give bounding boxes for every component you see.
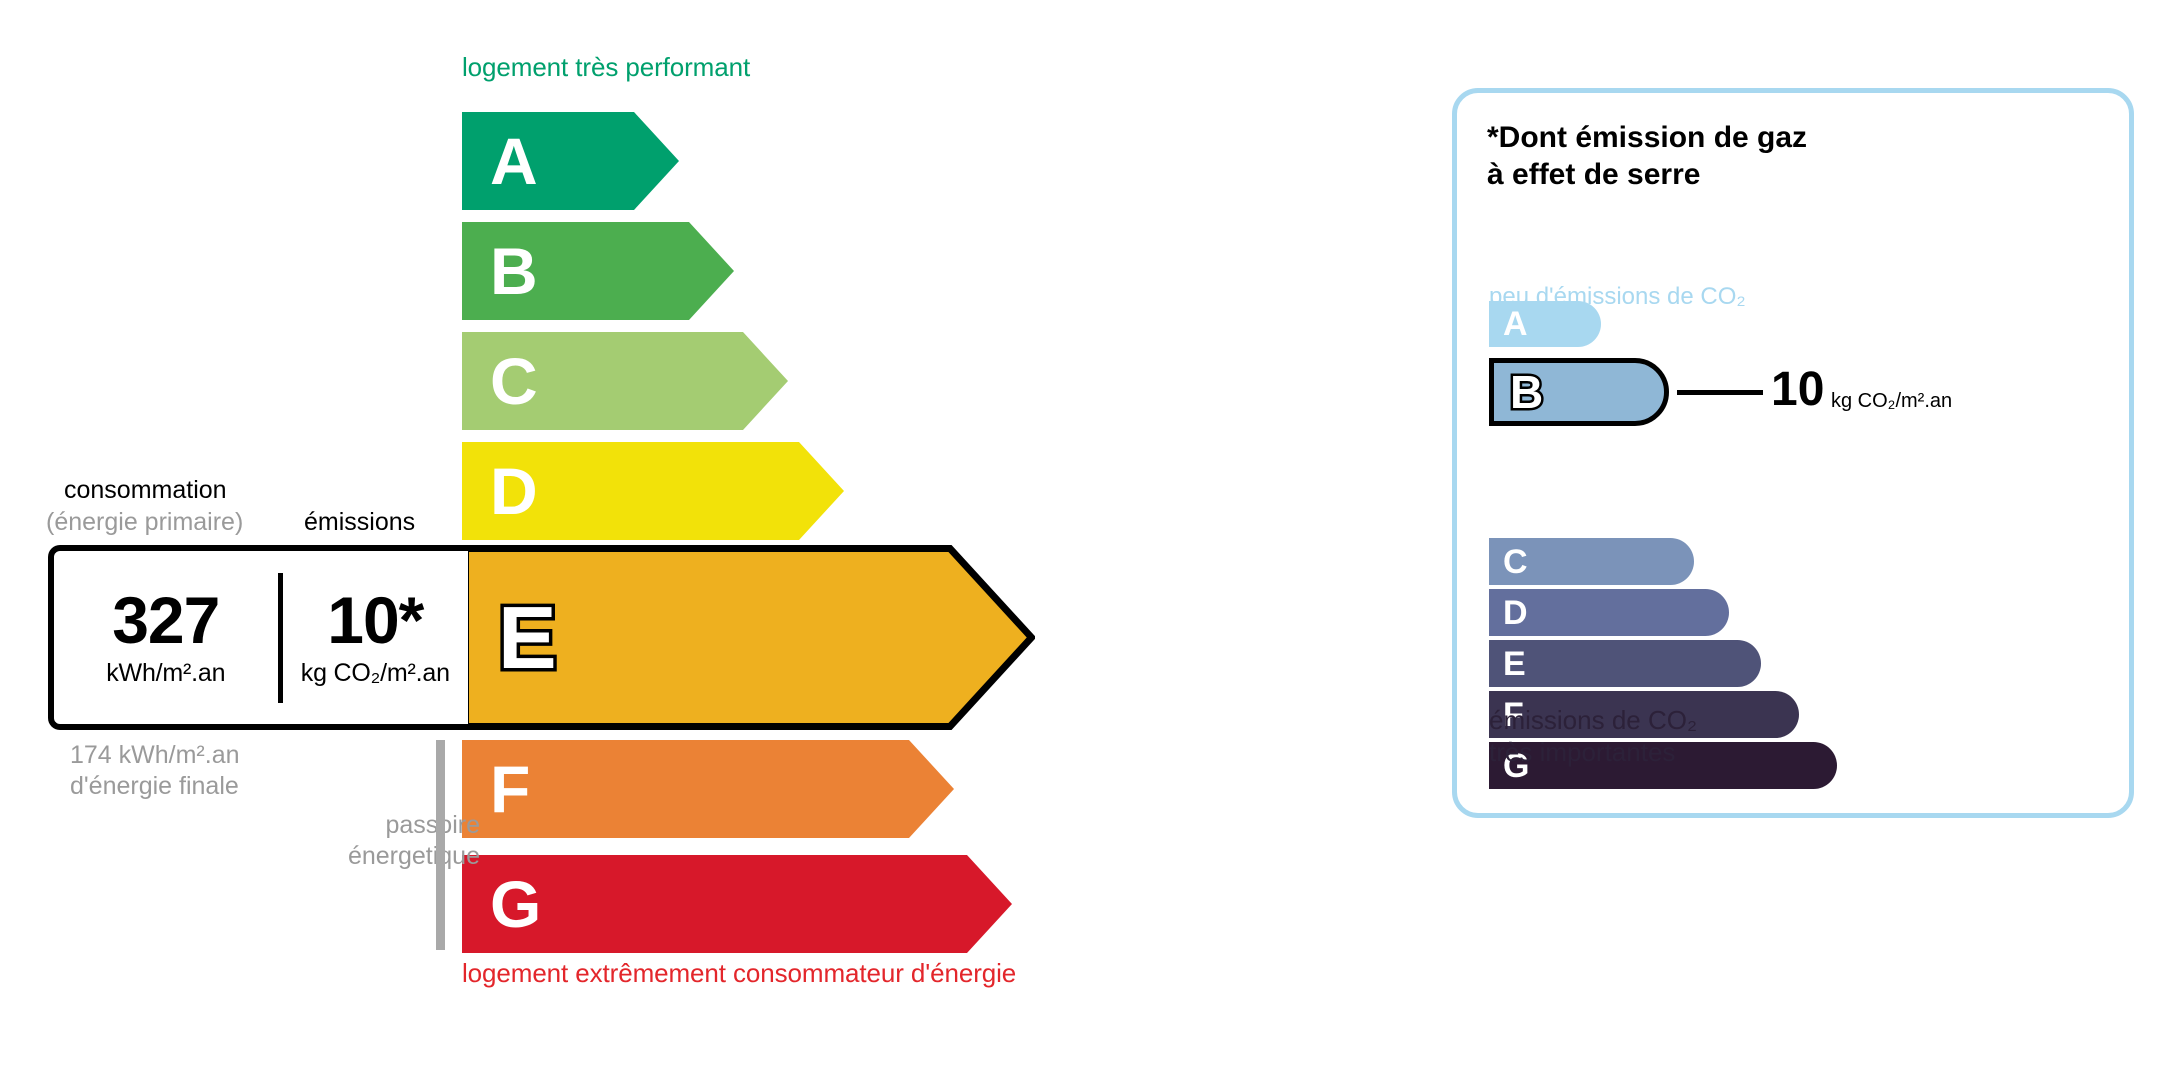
energy-band-a-letter: A — [490, 128, 538, 194]
energy-band-d: D — [462, 442, 844, 540]
ges-panel-title: *Dont émission de gaz à effet de serre — [1487, 120, 1807, 193]
ges-row-b-letter: B — [1510, 369, 1543, 415]
energy-band-g: G — [462, 855, 1012, 953]
passoire-bracket-line — [436, 740, 445, 950]
passoire-line1: passoire — [290, 810, 480, 841]
passoire-line2: énergetique — [290, 841, 480, 872]
energy-band-d-letter: D — [490, 458, 538, 524]
emission-unit: kg CO₂/m².an — [289, 659, 462, 688]
energy-band-b: B — [462, 222, 734, 320]
final-energy-note: 174 kWh/m².an d'énergie finale — [70, 740, 240, 803]
consumption-unit: kWh/m².an — [60, 659, 272, 688]
ges-co2-panel: *Dont émission de gaz à effet de serre p… — [1452, 88, 2134, 818]
energy-band-e-letter: E — [498, 594, 557, 682]
label-emissions: émissions — [304, 508, 415, 537]
ges-callout-unit: kg CO₂/m².an — [1831, 390, 1952, 413]
energy-band-f-letter: F — [490, 756, 530, 822]
consumption-number: 327 — [60, 587, 272, 653]
final-energy-line1: 174 kWh/m².an — [70, 740, 240, 771]
energy-top-caption: logement très performant — [462, 52, 750, 83]
ges-row-a: A — [1489, 301, 1601, 347]
energy-band-c: C — [462, 332, 788, 430]
energy-bottom-caption: logement extrêmement consommateur d'éner… — [462, 958, 1016, 989]
energy-band-b-letter: B — [490, 238, 538, 304]
ges-row-d-letter: D — [1503, 596, 1528, 630]
energy-band-f-arrow — [462, 740, 954, 838]
ges-row-a-letter: A — [1503, 307, 1528, 341]
ges-row-e: E — [1489, 640, 1761, 687]
ges-bottom-line2: très importantes — [1489, 737, 1697, 769]
ges-row-b-selected: B — [1489, 358, 1669, 426]
dpe-energy-chart: logement très performant A B C D E F G c… — [0, 0, 1450, 1079]
ges-bottom-caption: émissions de CO₂ très importantes — [1489, 705, 1697, 768]
ges-row-c-letter: C — [1503, 545, 1528, 579]
ges-bottom-line1: émissions de CO₂ — [1489, 705, 1697, 737]
ges-callout-leader-line — [1677, 390, 1763, 395]
emission-number: 10* — [289, 587, 462, 653]
ges-row-c: C — [1489, 538, 1694, 585]
energy-band-e-selected: E — [462, 545, 1035, 730]
label-energie-primaire: (énergie primaire) — [46, 508, 243, 537]
ges-row-d: D — [1489, 589, 1729, 636]
passoire-energetique-note: passoire énergetique — [290, 810, 480, 873]
ges-title-line2: à effet de serre — [1487, 157, 1807, 194]
energy-band-g-letter: G — [490, 871, 541, 937]
ges-title-line1: *Dont émission de gaz — [1487, 120, 1807, 157]
ges-callout-value: 10 — [1771, 366, 1824, 414]
final-energy-line2: d'énergie finale — [70, 771, 240, 802]
energy-value-box: 327 kWh/m².an 10* kg CO₂/m².an — [48, 545, 468, 730]
label-consommation: consommation — [64, 476, 227, 505]
emission-value-cell: 10* kg CO₂/m².an — [283, 587, 468, 688]
energy-band-g-arrow — [462, 855, 1012, 953]
energy-band-a: A — [462, 112, 679, 210]
ges-row-e-letter: E — [1503, 647, 1526, 681]
energy-band-c-letter: C — [490, 348, 538, 414]
energy-band-f: F — [462, 740, 954, 838]
consumption-value-cell: 327 kWh/m².an — [54, 587, 278, 688]
